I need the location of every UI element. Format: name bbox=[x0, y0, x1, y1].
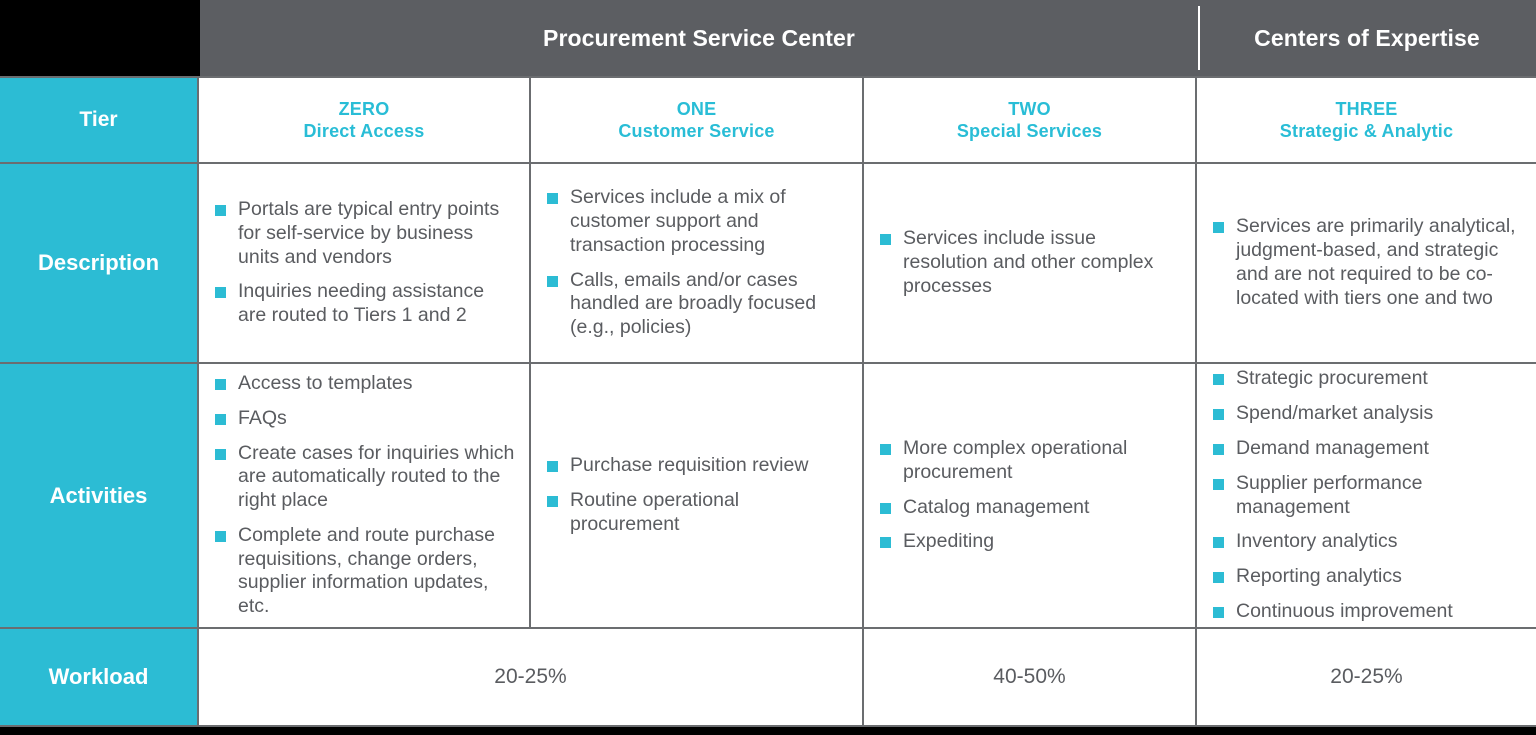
tier-number-two: TWO bbox=[1008, 98, 1051, 121]
banner-segment-label: Procurement Service Center bbox=[543, 25, 855, 52]
bullet-list: Access to templates FAQs Create cases fo… bbox=[213, 372, 515, 619]
row-header-description: Description bbox=[0, 164, 199, 362]
list-item: Services include issue resolution and ot… bbox=[878, 227, 1181, 298]
bullet-list: Strategic procurement Spend/market analy… bbox=[1211, 367, 1522, 623]
bullet-list: Portals are typical entry points for sel… bbox=[213, 198, 515, 328]
table-row-workload: Workload 20-25% 40-50% 20-25% bbox=[0, 629, 1536, 725]
bullet-list: Services include issue resolution and ot… bbox=[878, 227, 1181, 298]
list-item: Reporting analytics bbox=[1211, 565, 1522, 589]
banner-segments: Procurement Service Center Centers of Ex… bbox=[200, 0, 1536, 76]
list-item: Inventory analytics bbox=[1211, 530, 1522, 554]
list-item: Routine operational procurement bbox=[545, 489, 848, 537]
bullet-list: Services are primarily analytical, judgm… bbox=[1211, 215, 1522, 310]
list-item: Calls, emails and/or cases handled are b… bbox=[545, 269, 848, 340]
row-header-activities: Activities bbox=[0, 364, 199, 627]
workload-value: 40-50% bbox=[878, 665, 1181, 689]
workload-value: 20-25% bbox=[213, 665, 848, 689]
row-header-tier: Tier bbox=[0, 78, 199, 162]
activities-cell-three: Strategic procurement Spend/market analy… bbox=[1197, 364, 1536, 627]
list-item: Portals are typical entry points for sel… bbox=[213, 198, 515, 269]
list-item: Create cases for inquiries which are aut… bbox=[213, 442, 515, 513]
tier-matrix-table: Tier ZERO Direct Access ONE Customer Ser… bbox=[0, 76, 1536, 727]
tier-number-three: THREE bbox=[1335, 98, 1397, 121]
tier-number-one: ONE bbox=[677, 98, 717, 121]
tier-cell-two: TWO Special Services bbox=[864, 78, 1197, 162]
list-item: Inquiries needing assistance are routed … bbox=[213, 280, 515, 328]
bullet-list: Purchase requisition review Routine oper… bbox=[545, 454, 848, 536]
tier-cell-three: THREE Strategic & Analytic bbox=[1197, 78, 1536, 162]
list-item: Catalog management bbox=[878, 496, 1181, 520]
description-cell-one: Services include a mix of customer suppo… bbox=[531, 164, 864, 362]
banner-segment-label: Centers of Expertise bbox=[1254, 25, 1480, 52]
description-cell-zero: Portals are typical entry points for sel… bbox=[199, 164, 531, 362]
tier-name-two: Special Services bbox=[957, 120, 1102, 143]
description-cell-three: Services are primarily analytical, judgm… bbox=[1197, 164, 1536, 362]
tier-name-zero: Direct Access bbox=[303, 120, 424, 143]
table-row-tier: Tier ZERO Direct Access ONE Customer Ser… bbox=[0, 78, 1536, 164]
banner-vertical-divider bbox=[1198, 6, 1200, 70]
row-header-label: Tier bbox=[79, 108, 117, 132]
activities-cell-zero: Access to templates FAQs Create cases fo… bbox=[199, 364, 531, 627]
bullet-list: More complex operational procurement Cat… bbox=[878, 437, 1181, 554]
workload-cell-three: 20-25% bbox=[1197, 629, 1536, 725]
list-item: Spend/market analysis bbox=[1211, 402, 1522, 426]
workload-value: 20-25% bbox=[1211, 665, 1522, 689]
list-item: Complete and route purchase requisitions… bbox=[213, 524, 515, 619]
list-item: Expediting bbox=[878, 530, 1181, 554]
table-top-banner: Procurement Service Center Centers of Ex… bbox=[0, 0, 1536, 76]
list-item: Access to templates bbox=[213, 372, 515, 396]
list-item: Purchase requisition review bbox=[545, 454, 848, 478]
slide-root: Procurement Service Center Centers of Ex… bbox=[0, 0, 1536, 735]
table-row-activities: Activities Access to templates FAQs Crea… bbox=[0, 364, 1536, 629]
row-header-label: Description bbox=[38, 250, 159, 276]
banner-segment-centers-of-expertise: Centers of Expertise bbox=[1198, 0, 1536, 76]
list-item: Continuous improvement bbox=[1211, 600, 1522, 624]
banner-corner-blank bbox=[0, 0, 200, 76]
row-header-label: Workload bbox=[49, 664, 149, 690]
tier-name-three: Strategic & Analytic bbox=[1280, 120, 1453, 143]
description-cell-two: Services include issue resolution and ot… bbox=[864, 164, 1197, 362]
workload-cell-zero-one: 20-25% bbox=[199, 629, 864, 725]
tier-cell-one: ONE Customer Service bbox=[531, 78, 864, 162]
activities-cell-two: More complex operational procurement Cat… bbox=[864, 364, 1197, 627]
list-item: Demand management bbox=[1211, 437, 1522, 461]
list-item: Services include a mix of customer suppo… bbox=[545, 186, 848, 257]
table-row-description: Description Portals are typical entry po… bbox=[0, 164, 1536, 364]
row-header-workload: Workload bbox=[0, 629, 199, 725]
list-item: FAQs bbox=[213, 407, 515, 431]
list-item: Strategic procurement bbox=[1211, 367, 1522, 391]
banner-segment-procurement-service-center: Procurement Service Center bbox=[200, 0, 1198, 76]
list-item: Supplier performance management bbox=[1211, 472, 1522, 520]
tier-name-one: Customer Service bbox=[618, 120, 774, 143]
tier-number-zero: ZERO bbox=[339, 98, 390, 121]
row-header-label: Activities bbox=[50, 483, 148, 509]
tier-cell-zero: ZERO Direct Access bbox=[199, 78, 531, 162]
activities-cell-one: Purchase requisition review Routine oper… bbox=[531, 364, 864, 627]
slide-bottom-strip bbox=[0, 727, 1536, 735]
list-item: Services are primarily analytical, judgm… bbox=[1211, 215, 1522, 310]
bullet-list: Services include a mix of customer suppo… bbox=[545, 186, 848, 340]
list-item: More complex operational procurement bbox=[878, 437, 1181, 485]
workload-cell-two: 40-50% bbox=[864, 629, 1197, 725]
